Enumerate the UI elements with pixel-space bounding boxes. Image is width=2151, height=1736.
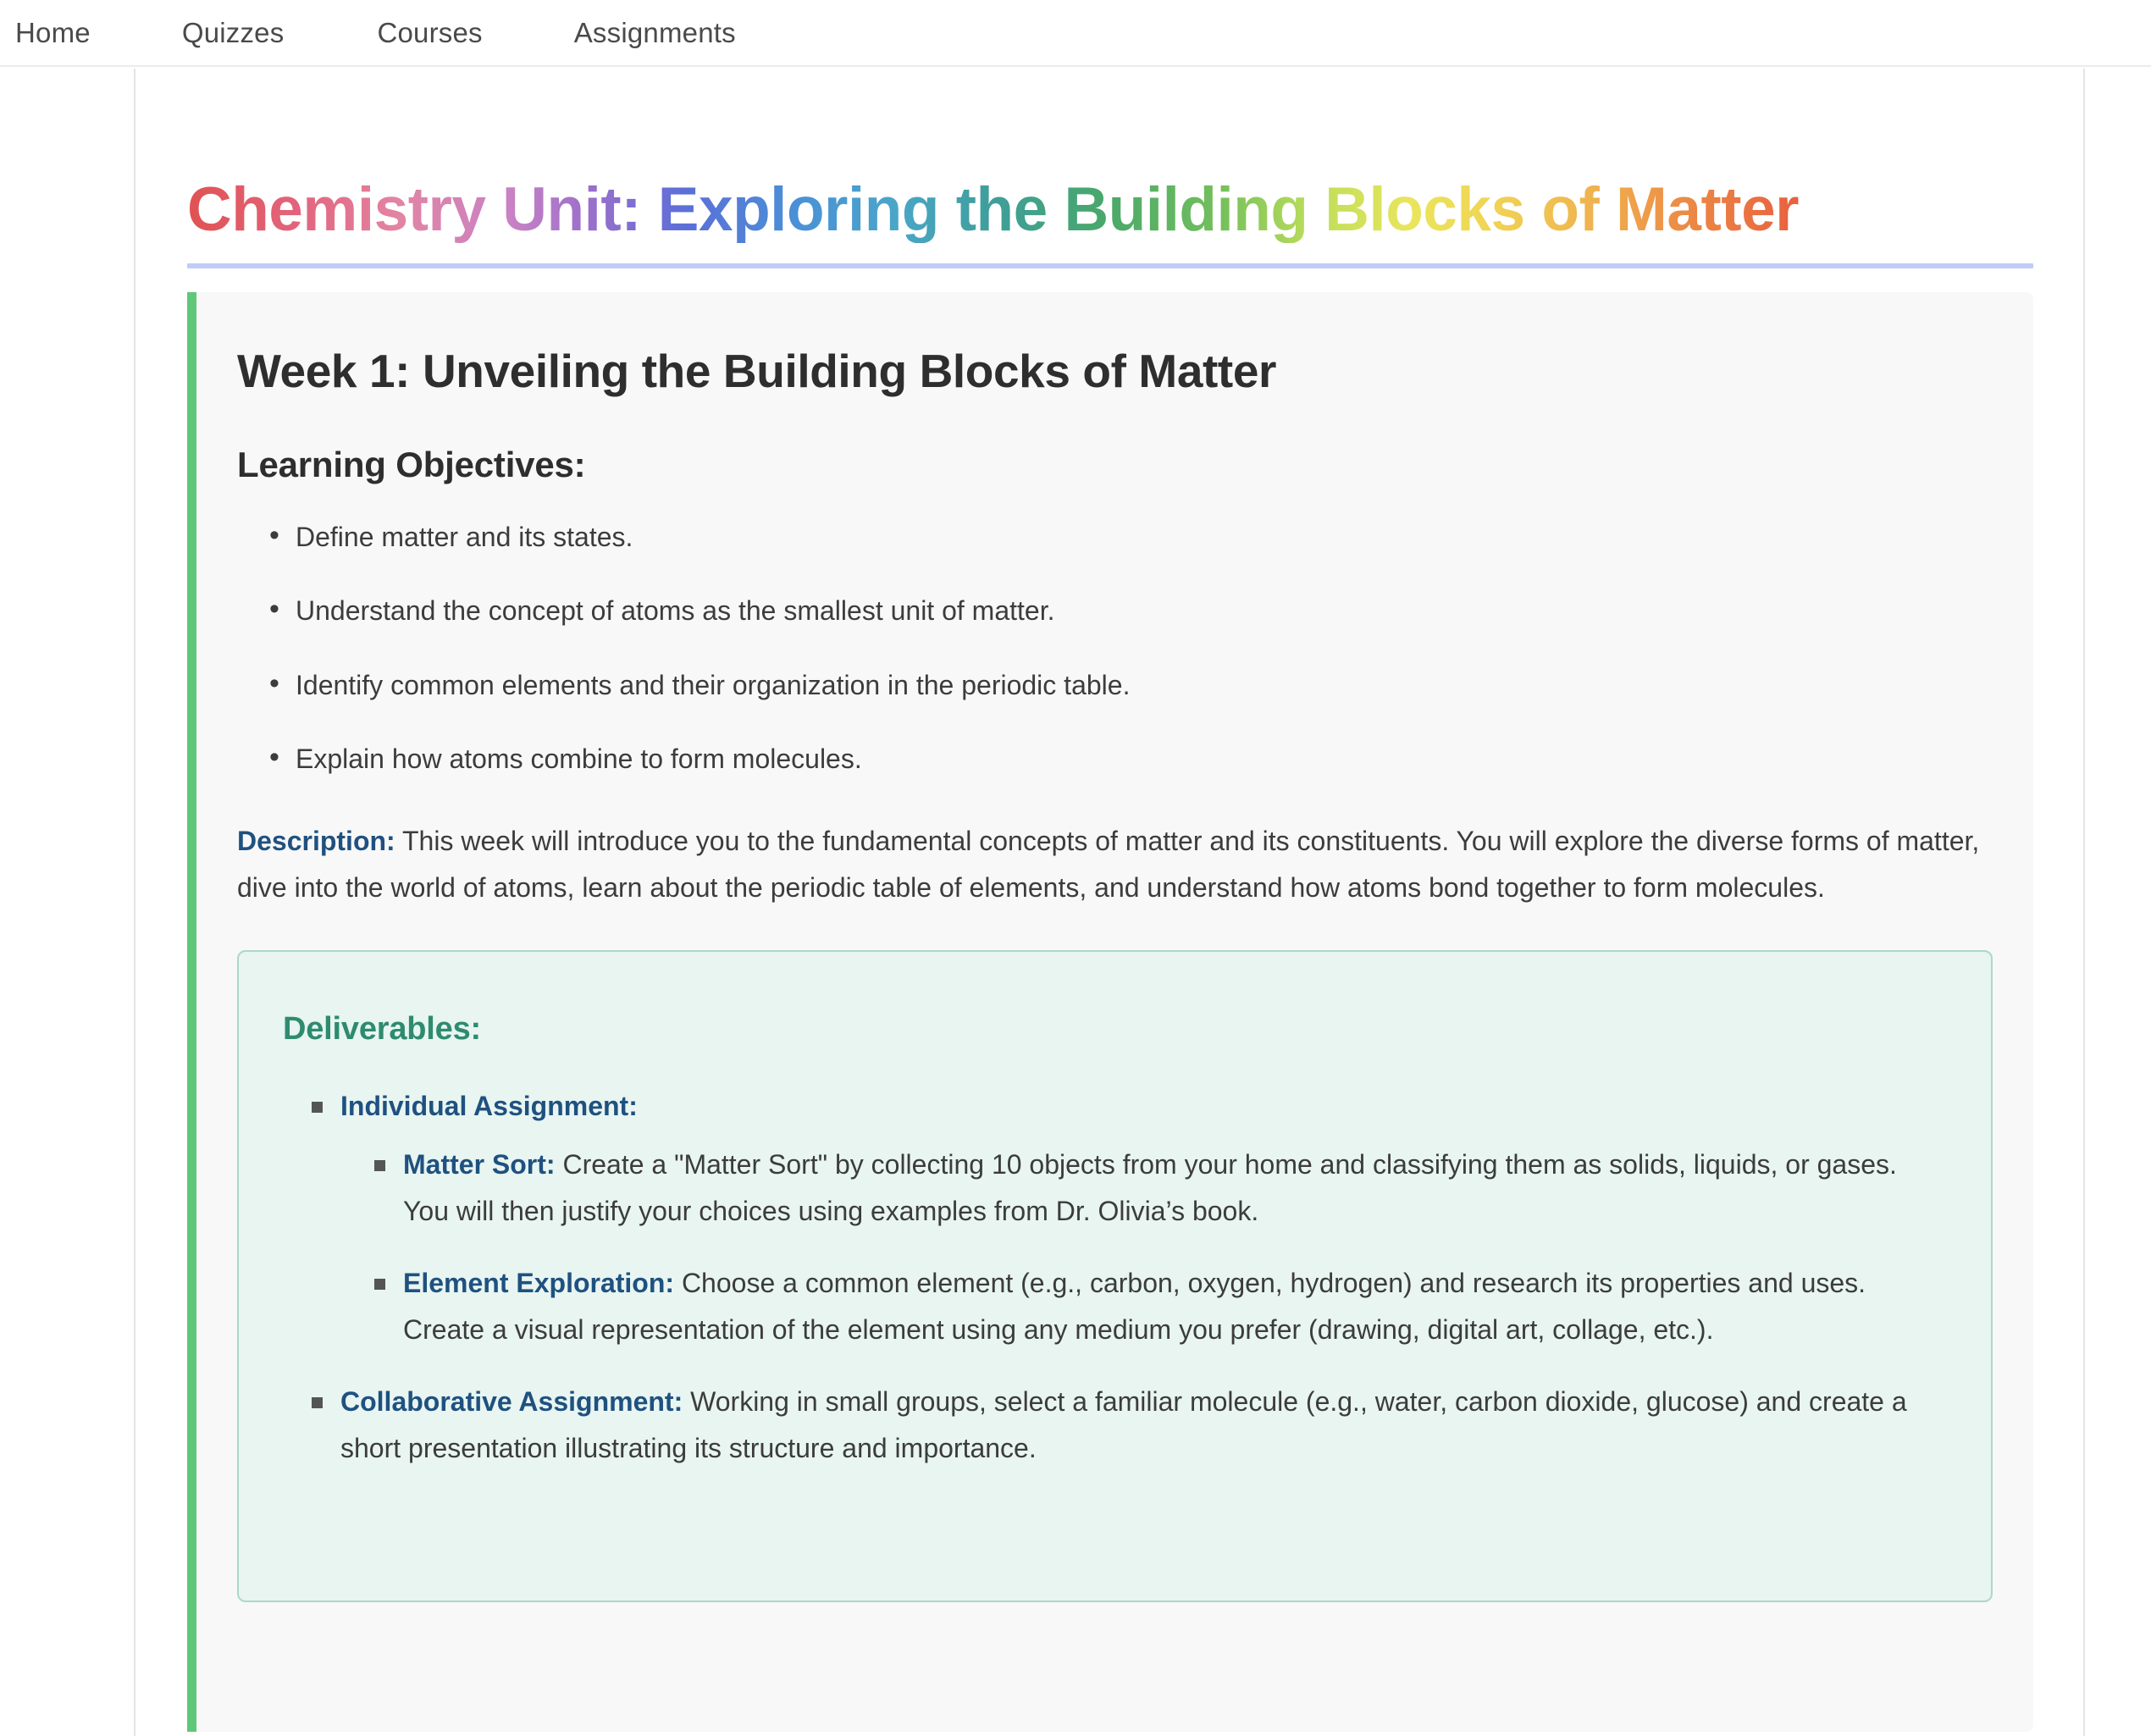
week-card-inner: Week 1: Unveiling the Building Blocks of…	[196, 345, 2033, 1602]
right-gutter	[2083, 69, 2151, 1736]
list-item-element-exploration: Element Exploration: Choose a common ele…	[374, 1260, 1947, 1353]
description-label: Description:	[237, 826, 395, 856]
learning-objectives-list: Define matter and its states. Understand…	[269, 517, 1993, 779]
list-item-individual-assignment: Individual Assignment: Matter Sort: Crea…	[312, 1083, 1947, 1353]
left-gutter	[0, 69, 135, 1736]
nav-item-home[interactable]: Home	[15, 17, 91, 49]
matter-sort-text: Create a "Matter Sort" by collecting 10 …	[403, 1149, 1897, 1226]
top-navigation-bar: Home Quizzes Courses Assignments	[0, 0, 2151, 67]
deliverables-list: Individual Assignment: Matter Sort: Crea…	[312, 1083, 1947, 1472]
nav-item-courses[interactable]: Courses	[377, 17, 482, 49]
list-item-matter-sort: Matter Sort: Create a "Matter Sort" by c…	[374, 1142, 1947, 1235]
week-description: Description: This week will introduce yo…	[237, 818, 1993, 911]
week-card: Week 1: Unveiling the Building Blocks of…	[187, 292, 2033, 1732]
individual-assignment-sublist: Matter Sort: Create a "Matter Sort" by c…	[374, 1142, 1947, 1353]
collaborative-assignment-label: Collaborative Assignment:	[340, 1386, 683, 1417]
page-title: Chemistry Unit: Exploring the Building B…	[187, 178, 1799, 243]
list-item: Explain how atoms combine to form molecu…	[269, 739, 1993, 778]
element-exploration-label: Element Exploration:	[403, 1268, 674, 1298]
week-heading: Week 1: Unveiling the Building Blocks of…	[237, 345, 1993, 398]
nav-item-quizzes[interactable]: Quizzes	[182, 17, 285, 49]
list-item: Understand the concept of atoms as the s…	[269, 591, 1993, 630]
nav-item-assignments[interactable]: Assignments	[574, 17, 736, 49]
deliverables-heading: Deliverables:	[283, 1011, 1947, 1048]
page-shell: Chemistry Unit: Exploring the Building B…	[0, 69, 2151, 1736]
deliverables-box: Deliverables: Individual Assignment: Mat…	[237, 950, 1993, 1602]
description-text: This week will introduce you to the fund…	[237, 826, 1979, 903]
individual-assignment-label: Individual Assignment:	[340, 1091, 638, 1121]
learning-objectives-heading: Learning Objectives:	[237, 445, 1993, 485]
list-item: Identify common elements and their organ…	[269, 666, 1993, 705]
title-divider	[187, 263, 2033, 268]
list-item: Define matter and its states.	[269, 517, 1993, 556]
main-content: Chemistry Unit: Exploring the Building B…	[137, 69, 2083, 1736]
matter-sort-label: Matter Sort:	[403, 1149, 556, 1180]
list-item-collaborative-assignment: Collaborative Assignment: Working in sma…	[312, 1379, 1947, 1472]
